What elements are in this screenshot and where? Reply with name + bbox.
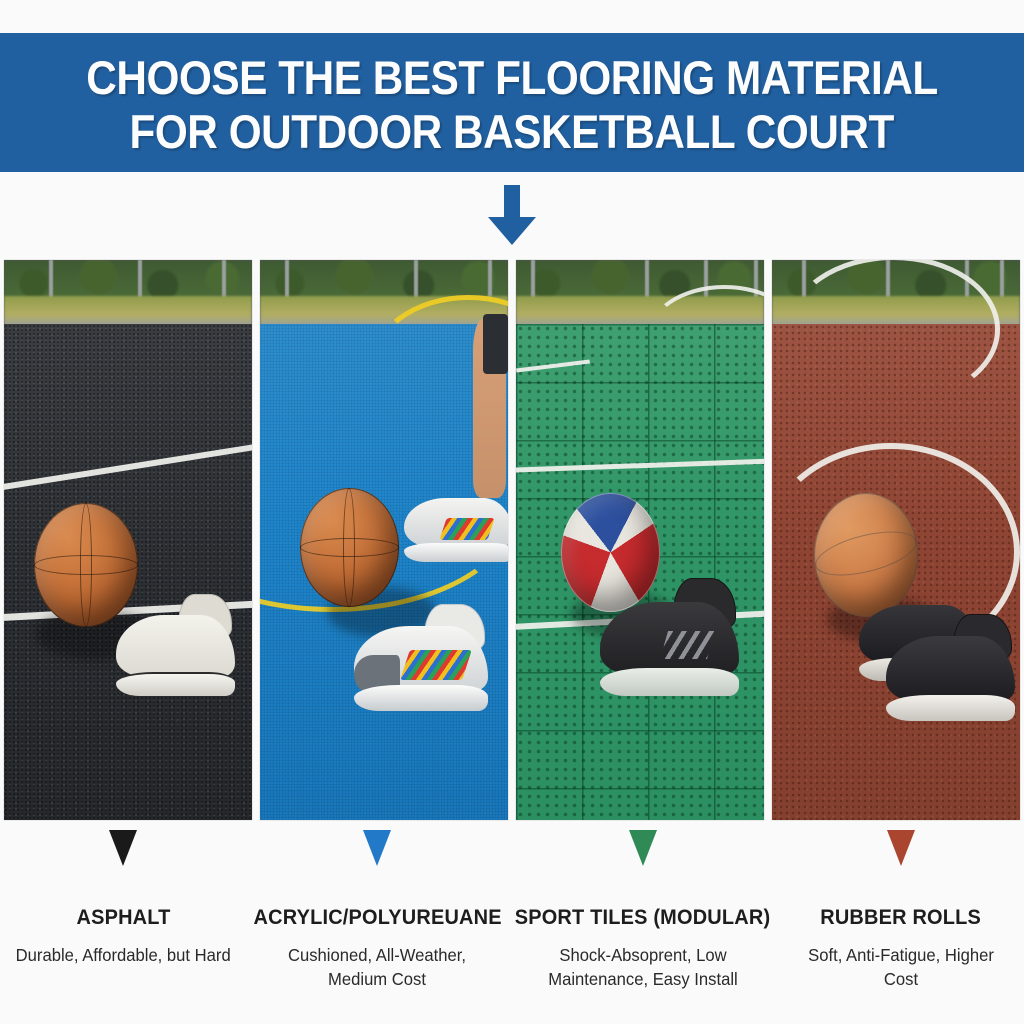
down-arrow-container [0, 182, 1024, 250]
marker-triangle-icon [109, 830, 137, 866]
legend-description-asphalt: Durable, Affordable, but Hard [16, 943, 231, 967]
sneaker-right [886, 622, 1015, 721]
panel-rubber-rolls-photo [772, 260, 1020, 820]
title-line-2: FOR OUTDOOR BASKETBALL COURT [130, 105, 894, 159]
legend-column-rubber-rolls: RUBBER ROLLS Soft, Anti-Fatigue, Higher … [777, 826, 1024, 1024]
legend-description-acrylic: Cushioned, All-Weather, Medium Cost [269, 943, 486, 991]
rubber-roll-surface [772, 324, 1020, 820]
panel-sport-tiles-photo [516, 260, 764, 820]
court-arc [787, 260, 1000, 404]
sneaker-back [404, 488, 508, 562]
background-grass [4, 296, 252, 327]
title-banner: CHOOSE THE BEST FLOORING MATERIAL FOR OU… [0, 33, 1024, 172]
acrylic-surface [260, 324, 508, 820]
title-line-1: CHOOSE THE BEST FLOORING MATERIAL [86, 51, 938, 105]
panel-asphalt-photo [4, 260, 252, 820]
shoe-stripe-accent [660, 631, 715, 659]
background-trees [260, 260, 508, 299]
basketball [300, 488, 399, 607]
legend-column-acrylic: ACRYLIC/POLYUREUANE Cushioned, All-Weath… [247, 826, 508, 1024]
legend-column-asphalt: ASPHALT Durable, Affordable, but Hard [0, 826, 247, 1024]
legend-title-acrylic: ACRYLIC/POLYUREUANE [253, 906, 501, 930]
background-trees [4, 260, 252, 299]
arrow-down-icon [486, 185, 538, 247]
marker-triangle-icon [887, 830, 915, 866]
marker-triangle-icon [629, 830, 657, 866]
legend-title-rubber-rolls: RUBBER ROLLS [820, 906, 981, 930]
sneaker [600, 587, 739, 696]
sneaker [116, 602, 235, 696]
asphalt-surface [4, 324, 252, 820]
legend-title-asphalt: ASPHALT [76, 906, 170, 930]
modular-tile-surface [516, 324, 764, 820]
comparison-photo-strip [0, 260, 1024, 820]
player-short [483, 314, 508, 373]
shoe-stripe-accent [400, 650, 471, 680]
legend-footer: ASPHALT Durable, Affordable, but Hard AC… [0, 826, 1024, 1024]
legend-title-sport-tiles: SPORT TILES (MODULAR) [515, 906, 771, 930]
panel-acrylic-photo [260, 260, 508, 820]
marker-triangle-icon [363, 830, 391, 866]
legend-description-rubber-rolls: Soft, Anti-Fatigue, Higher Cost [792, 943, 1009, 991]
shoe-stripe-accent [439, 518, 494, 540]
sneaker-front [354, 612, 488, 711]
legend-description-sport-tiles: Shock-Absoprent, Low Maintenance, Easy I… [534, 943, 751, 991]
legend-column-sport-tiles: SPORT TILES (MODULAR) Shock-Absoprent, L… [508, 826, 777, 1024]
